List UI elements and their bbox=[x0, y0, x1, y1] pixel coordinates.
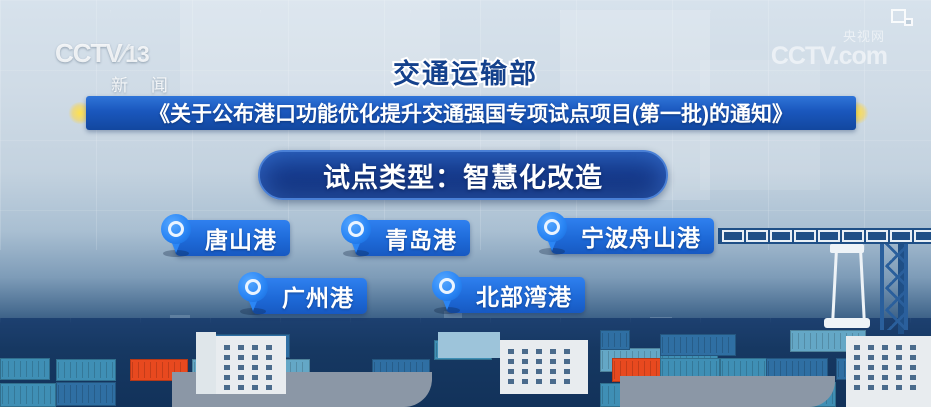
building-window bbox=[252, 375, 258, 380]
building-window bbox=[868, 355, 874, 360]
shipping-container bbox=[56, 382, 116, 406]
building-window bbox=[896, 345, 902, 350]
map-pin-icon bbox=[238, 272, 268, 314]
port-name-label: 广州港 bbox=[252, 279, 367, 313]
building-window bbox=[896, 365, 902, 370]
building-window bbox=[564, 369, 570, 374]
building-window bbox=[896, 355, 902, 360]
broadcast-frame: CCTV∕13 新 闻 CCTV.com 央视网 交通运输部 《关于公布港口功能… bbox=[0, 0, 931, 407]
port-name-label: 青岛港 bbox=[355, 221, 470, 255]
building-window bbox=[224, 355, 230, 360]
building-window bbox=[238, 375, 244, 380]
building-window bbox=[224, 375, 230, 380]
building-window bbox=[238, 355, 244, 360]
ministry-title: 交通运输部 bbox=[0, 52, 931, 91]
building-window bbox=[266, 375, 272, 380]
building-window bbox=[252, 355, 258, 360]
map-pin-icon bbox=[341, 214, 371, 256]
building-window bbox=[854, 355, 860, 360]
building-window bbox=[536, 359, 542, 364]
crane-truss-segment bbox=[890, 230, 912, 242]
terminal-building bbox=[500, 340, 588, 394]
building-window bbox=[882, 345, 888, 350]
crane-truss-segment bbox=[722, 230, 744, 242]
building-window bbox=[508, 369, 514, 374]
building-window bbox=[238, 345, 244, 350]
cargo-ship-hull bbox=[620, 376, 835, 407]
crane-spreader bbox=[824, 318, 870, 328]
building-window bbox=[522, 359, 528, 364]
building-window bbox=[854, 375, 860, 380]
building-window bbox=[882, 375, 888, 380]
map-pin-icon bbox=[537, 212, 567, 254]
building-window bbox=[910, 385, 916, 390]
pin-ring bbox=[544, 219, 560, 235]
port-name-label: 北部湾港 bbox=[446, 278, 585, 312]
building-window bbox=[882, 365, 888, 370]
building-window bbox=[910, 375, 916, 380]
building-window bbox=[854, 385, 860, 390]
building-window bbox=[550, 349, 556, 354]
building-window bbox=[868, 375, 874, 380]
shipping-container bbox=[660, 334, 736, 356]
building-window bbox=[252, 345, 258, 350]
building-window bbox=[266, 365, 272, 370]
building-window bbox=[550, 379, 556, 384]
building-window bbox=[896, 385, 902, 390]
building-window bbox=[522, 379, 528, 384]
pin-ring bbox=[245, 279, 261, 295]
shipping-container bbox=[0, 358, 50, 380]
ship-tower bbox=[196, 332, 216, 394]
building-window bbox=[536, 369, 542, 374]
building-window bbox=[266, 355, 272, 360]
building-window bbox=[910, 355, 916, 360]
terminal-roof bbox=[438, 332, 500, 358]
building-window bbox=[266, 345, 272, 350]
port-tag[interactable]: 青岛港 bbox=[355, 220, 470, 256]
pip-inner-rect bbox=[904, 18, 913, 26]
building-window bbox=[536, 349, 542, 354]
port-tag[interactable]: 宁波舟山港 bbox=[551, 218, 714, 254]
building-window bbox=[224, 365, 230, 370]
building-window bbox=[868, 385, 874, 390]
pin-ring bbox=[168, 221, 184, 237]
document-title-banner: 《关于公布港口功能优化提升交通强国专项试点项目(第一批)的通知》 bbox=[86, 96, 856, 130]
building-window bbox=[238, 365, 244, 370]
port-name-label: 唐山港 bbox=[175, 221, 290, 255]
building-window bbox=[910, 365, 916, 370]
building-window bbox=[564, 359, 570, 364]
building-window bbox=[224, 385, 230, 390]
building-window bbox=[522, 349, 528, 354]
building-window bbox=[536, 379, 542, 384]
pilot-category-text: 试点类型：智慧化改造 bbox=[323, 156, 603, 195]
crane-truss-segment bbox=[770, 230, 792, 242]
building-window bbox=[564, 349, 570, 354]
port-tag[interactable]: 唐山港 bbox=[175, 220, 290, 256]
gantry-crane-beam bbox=[718, 228, 931, 244]
shipping-container bbox=[600, 330, 630, 350]
crane-truss-segment bbox=[794, 230, 816, 242]
terminal-building bbox=[846, 336, 931, 407]
picture-in-picture-icon[interactable] bbox=[891, 9, 913, 26]
building-window bbox=[854, 365, 860, 370]
crane-truss-segment bbox=[818, 230, 840, 242]
building-window bbox=[508, 379, 514, 384]
watermark-chinese: 央视网 bbox=[843, 30, 885, 43]
crane-truss-segment bbox=[914, 230, 931, 242]
crane-lattice bbox=[880, 244, 908, 330]
shipping-container bbox=[56, 359, 116, 381]
pin-ring bbox=[439, 278, 455, 294]
crane-truss-segment bbox=[866, 230, 888, 242]
port-name-label: 宁波舟山港 bbox=[551, 219, 714, 253]
building-window bbox=[910, 345, 916, 350]
building-window bbox=[238, 385, 244, 390]
building-window bbox=[868, 345, 874, 350]
port-tag[interactable]: 北部湾港 bbox=[446, 277, 585, 313]
building-window bbox=[508, 349, 514, 354]
building-window bbox=[868, 365, 874, 370]
document-title-text: 《关于公布港口功能优化提升交通强国专项试点项目(第一批)的通知》 bbox=[149, 98, 793, 128]
building-window bbox=[522, 369, 528, 374]
ship-superstructure bbox=[216, 336, 286, 394]
pilot-category-pill: 试点类型：智慧化改造 bbox=[258, 150, 668, 200]
building-window bbox=[252, 385, 258, 390]
shipping-container bbox=[0, 383, 56, 407]
building-window bbox=[896, 375, 902, 380]
port-tag[interactable]: 广州港 bbox=[252, 278, 367, 314]
map-pin-icon bbox=[432, 271, 462, 313]
building-window bbox=[550, 369, 556, 374]
building-window bbox=[882, 355, 888, 360]
crane-truss-segment bbox=[746, 230, 768, 242]
building-window bbox=[564, 379, 570, 384]
crane-truss-segment bbox=[842, 230, 864, 242]
building-window bbox=[550, 359, 556, 364]
building-window bbox=[252, 365, 258, 370]
building-window bbox=[854, 345, 860, 350]
building-window bbox=[882, 385, 888, 390]
pin-ring bbox=[348, 221, 364, 237]
map-pin-icon bbox=[161, 214, 191, 256]
building-window bbox=[508, 359, 514, 364]
building-window bbox=[224, 345, 230, 350]
building-window bbox=[266, 385, 272, 390]
